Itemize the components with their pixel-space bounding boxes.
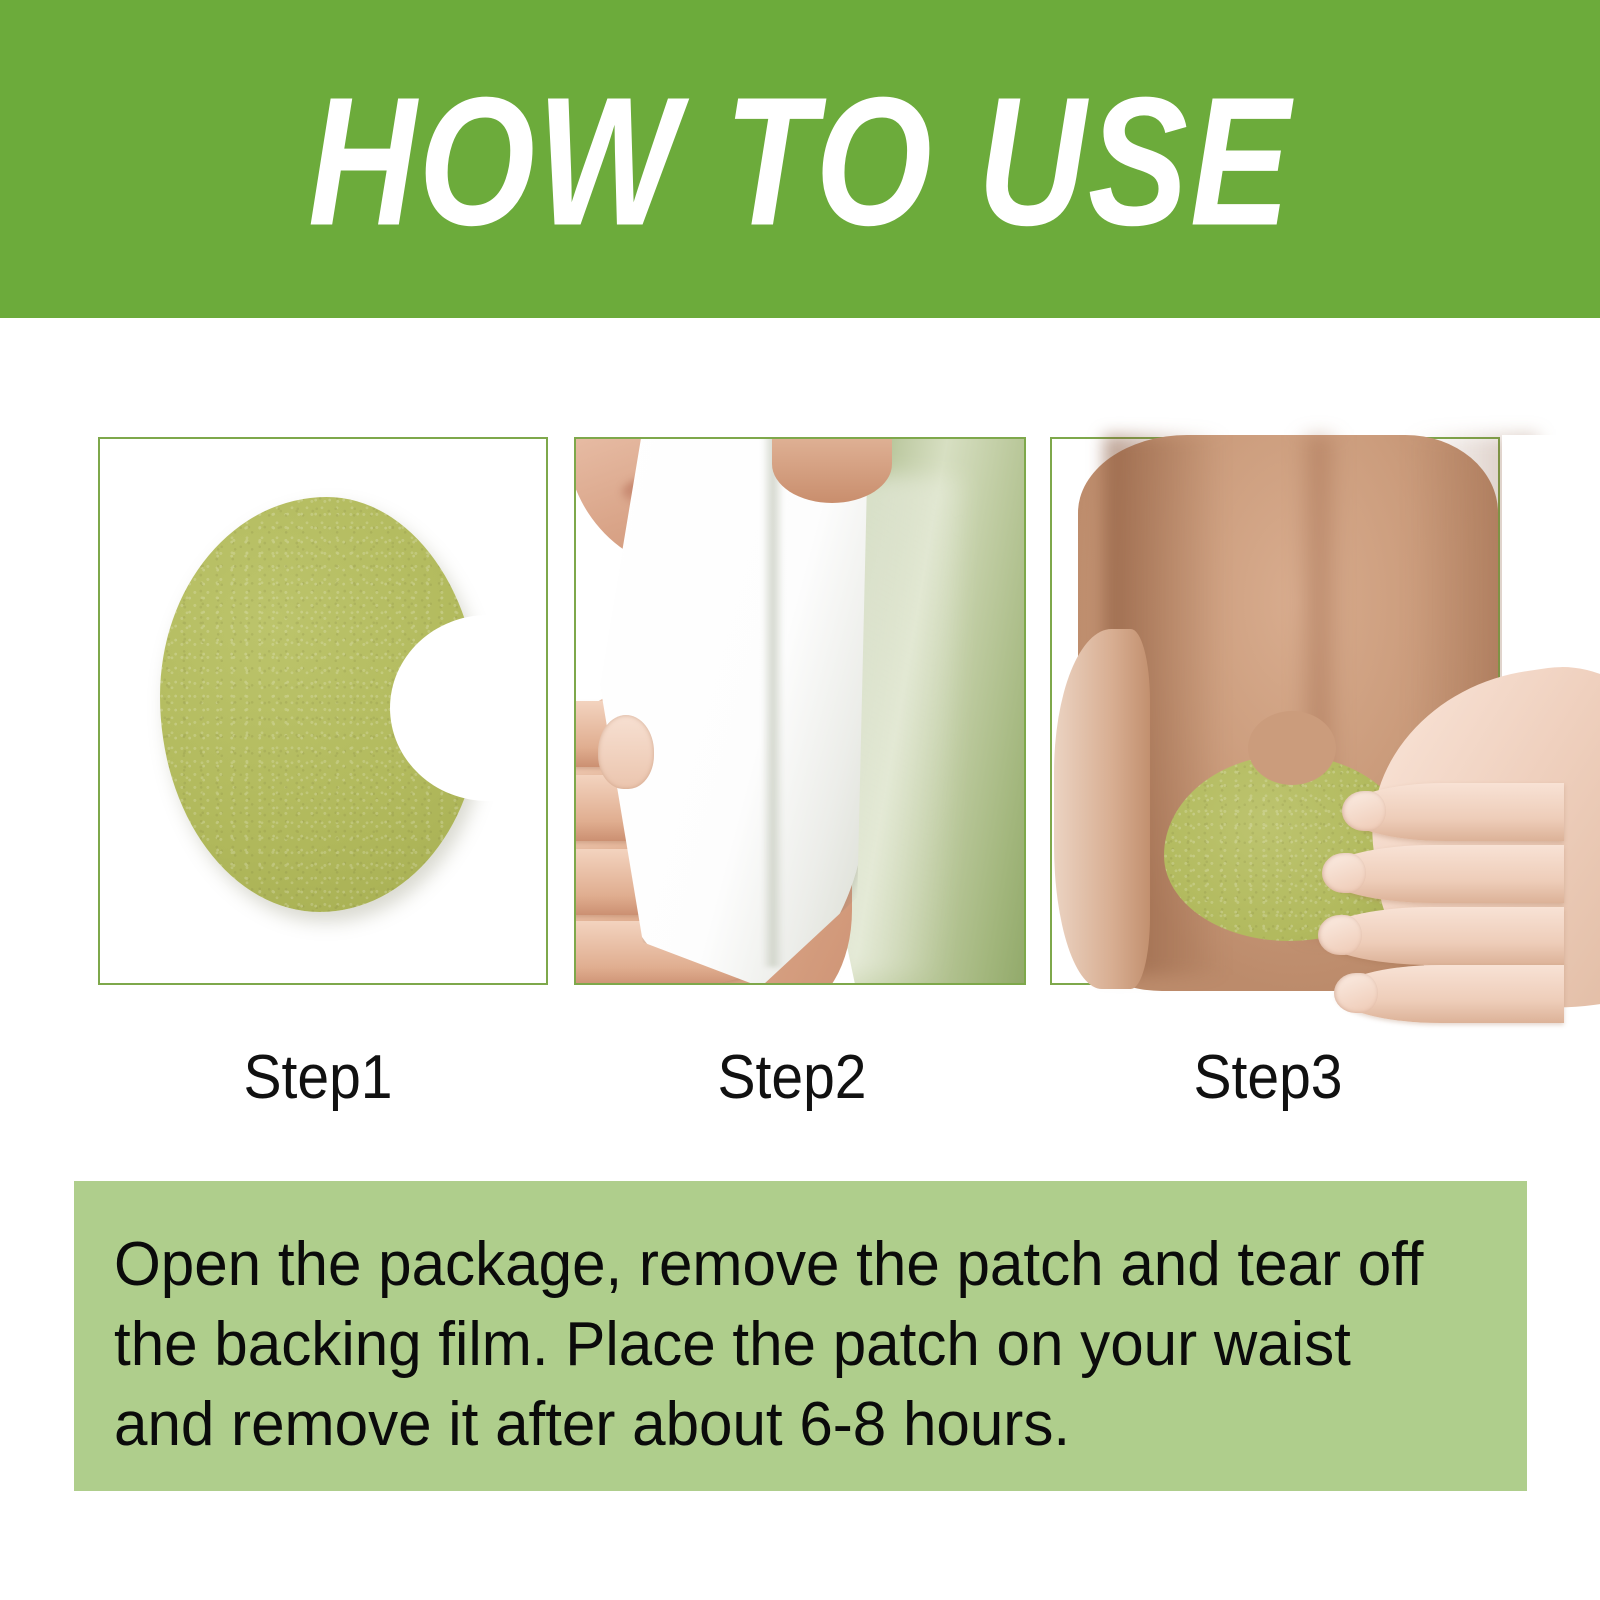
- fingernail: [1334, 973, 1378, 1013]
- header-banner: HOW TO USE: [0, 0, 1600, 318]
- instructions-box: Open the package, remove the patch and t…: [74, 1181, 1527, 1491]
- page-title: HOW TO USE: [308, 70, 1292, 253]
- fingernail: [1342, 791, 1386, 831]
- step-image-panel-2: [574, 437, 1026, 985]
- step-image-panel-1: [98, 437, 548, 985]
- photo-edge-mask: [1502, 435, 1558, 685]
- step-label-2: Step2: [580, 1030, 1003, 1126]
- fingernail: [1322, 853, 1366, 893]
- patch-illustration-step1: [160, 497, 490, 917]
- step-label-3: Step3: [1056, 1030, 1479, 1126]
- step-images-row: [0, 437, 1600, 985]
- patch-on-waist-photo: [1052, 439, 1498, 983]
- white-backing-film: [600, 437, 868, 985]
- step-label-1: Step1: [106, 1030, 529, 1126]
- peeling-backing-film-photo: [576, 439, 1024, 983]
- hip-highlight: [1054, 629, 1150, 989]
- fingernail: [1318, 915, 1362, 955]
- film-crease: [762, 437, 784, 967]
- step-image-panel-3: [1050, 437, 1500, 985]
- instructions-text: Open the package, remove the patch and t…: [114, 1225, 1438, 1465]
- pressing-hand: [1320, 769, 1570, 999]
- thumbnail: [598, 715, 654, 789]
- step-labels-row: Step1 Step2 Step3: [0, 1030, 1600, 1126]
